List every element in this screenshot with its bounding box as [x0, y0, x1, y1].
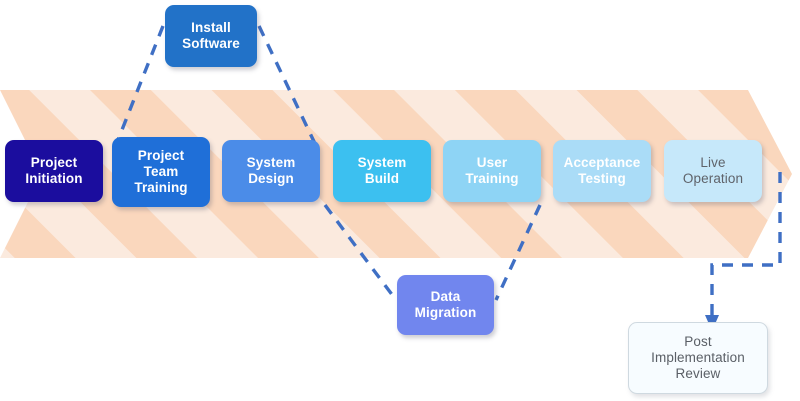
- satellite-node-install-software[interactable]: InstallSoftware: [165, 5, 257, 67]
- node-label-line: Software: [182, 36, 240, 52]
- node-label-line: User: [465, 155, 518, 171]
- roadmap-diagram: ProjectInitiation ProjectTeamTraining Sy…: [0, 0, 800, 401]
- node-label-line: Design: [247, 171, 296, 187]
- phase-node-user-training[interactable]: UserTraining: [443, 140, 541, 202]
- node-label-line: Post: [651, 334, 745, 350]
- phase-node-system-build[interactable]: SystemBuild: [333, 140, 431, 202]
- node-label-line: Initiation: [25, 171, 82, 187]
- node-label-line: Testing: [564, 171, 641, 187]
- node-label-line: Implementation: [651, 350, 745, 366]
- node-label-line: Project: [25, 155, 82, 171]
- node-label-line: Training: [465, 171, 518, 187]
- node-label-line: Migration: [415, 305, 477, 321]
- phase-node-acceptance-testing[interactable]: AcceptanceTesting: [553, 140, 651, 202]
- node-label-line: Training: [134, 180, 187, 196]
- node-label-line: Team: [134, 164, 187, 180]
- node-label-line: Install: [182, 20, 240, 36]
- node-label-line: Live: [683, 155, 743, 171]
- phase-node-live-operation[interactable]: LiveOperation: [664, 140, 762, 202]
- node-label-line: Data: [415, 289, 477, 305]
- node-label-line: System: [247, 155, 296, 171]
- node-label-line: Acceptance: [564, 155, 641, 171]
- node-label-line: Project: [134, 148, 187, 164]
- node-label-line: Build: [358, 171, 407, 187]
- node-label-line: System: [358, 155, 407, 171]
- phase-node-project-initiation[interactable]: ProjectInitiation: [5, 140, 103, 202]
- outcome-node-post-implementation-review[interactable]: PostImplementationReview: [628, 322, 768, 394]
- phase-node-project-team-training[interactable]: ProjectTeamTraining: [112, 137, 210, 207]
- node-label-line: Review: [651, 366, 745, 382]
- node-label-line: Operation: [683, 171, 743, 187]
- satellite-node-data-migration[interactable]: DataMigration: [397, 275, 494, 335]
- phase-node-system-design[interactable]: SystemDesign: [222, 140, 320, 202]
